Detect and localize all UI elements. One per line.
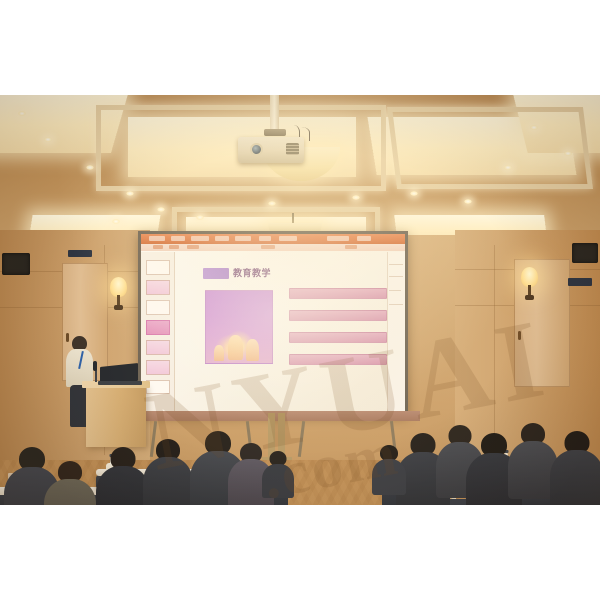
slide-bullet[interactable] [289,288,387,299]
ribbon-command[interactable] [187,245,199,249]
projector-ceiling-mount [264,129,286,136]
attendee-body [143,457,193,505]
slide-thumbnail[interactable] [146,360,170,375]
conference-room-photo: 教育教学 [0,95,600,505]
recessed-downlight [268,201,276,206]
pane-line [389,304,403,305]
wall-speaker [572,243,598,263]
slide-thumbnail[interactable] [146,280,170,295]
recessed-downlight [464,199,472,204]
slide-bullet[interactable] [289,354,387,365]
ribbon-command[interactable] [169,245,179,249]
slide-image[interactable] [205,290,273,364]
slide-bullet[interactable] [289,310,387,321]
wall-sconce-light [521,267,538,287]
pane-line [389,290,401,291]
recessed-downlight [126,191,134,196]
screen-light-glow [141,234,405,412]
wall-speaker [2,253,30,275]
attendee-body [44,479,96,505]
recessed-downlight [157,207,165,212]
slide-image-object [246,339,259,361]
projector-vent [286,143,299,155]
attendee [44,461,96,505]
attendee-body [372,459,406,495]
ribbon-command[interactable] [153,245,163,249]
pane-line [389,276,403,277]
slide-image-object [214,345,224,361]
attendee-body [550,450,600,505]
podium [86,385,146,447]
attendee [550,431,600,505]
attendee [143,439,193,505]
door-handle[interactable] [518,331,521,340]
attendee [372,445,406,497]
projector-mount-pole [270,95,279,131]
presenter-laptop-base[interactable] [98,381,142,385]
slide-title-placeholder[interactable] [203,268,229,279]
ribbon-tab[interactable] [215,236,229,241]
attendee [96,447,150,505]
projection-screen-surface[interactable]: 教育教学 [141,234,405,412]
ribbon-command[interactable] [345,245,357,249]
attendee-body [96,466,150,505]
wall-sconce-light [110,277,127,297]
ribbon-tab[interactable] [149,236,165,241]
recessed-downlight [18,111,26,116]
pane-line [389,264,403,265]
screenshot-root: 教育教学 [0,0,600,600]
recessed-downlight [564,151,572,156]
ribbon-tab[interactable] [279,236,297,241]
recessed-downlight [352,195,360,200]
slide-bullet[interactable] [289,332,387,343]
recessed-downlight [44,137,52,142]
slide-thumbnail[interactable] [146,340,170,355]
recessed-downlight [112,219,120,224]
wall-sconce-base [114,305,123,310]
ribbon-tab[interactable] [259,236,271,241]
slide-thumbnail[interactable] [146,300,170,315]
ribbon-tab[interactable] [171,236,185,241]
ribbon-tab[interactable] [357,236,371,241]
wall-panel-seam [494,245,495,455]
exit-sign [68,250,92,257]
slide-image-object [228,335,243,360]
recessed-downlight [530,125,538,130]
ceiling-coffer-frame [387,107,593,189]
slide-title-text: 教育教学 [233,268,295,279]
attendee-body [262,464,294,498]
wall-sconce-base [525,295,534,300]
ribbon-command[interactable] [261,245,275,249]
projector-lens [250,143,263,156]
recessed-downlight [410,191,418,196]
ribbon-tab[interactable] [191,236,209,241]
ribbon-tab[interactable] [235,236,251,241]
recessed-downlight [504,165,512,170]
slide-thumbnail-selected[interactable] [146,320,170,335]
ribbon-tab[interactable] [327,236,349,241]
slide-thumbnail[interactable] [146,260,170,275]
attendee [262,451,294,499]
recessed-downlight [86,165,94,170]
recessed-downlight [196,215,204,220]
podium-microphone [93,361,97,371]
door-handle[interactable] [66,333,69,342]
exit-sign [568,278,592,286]
